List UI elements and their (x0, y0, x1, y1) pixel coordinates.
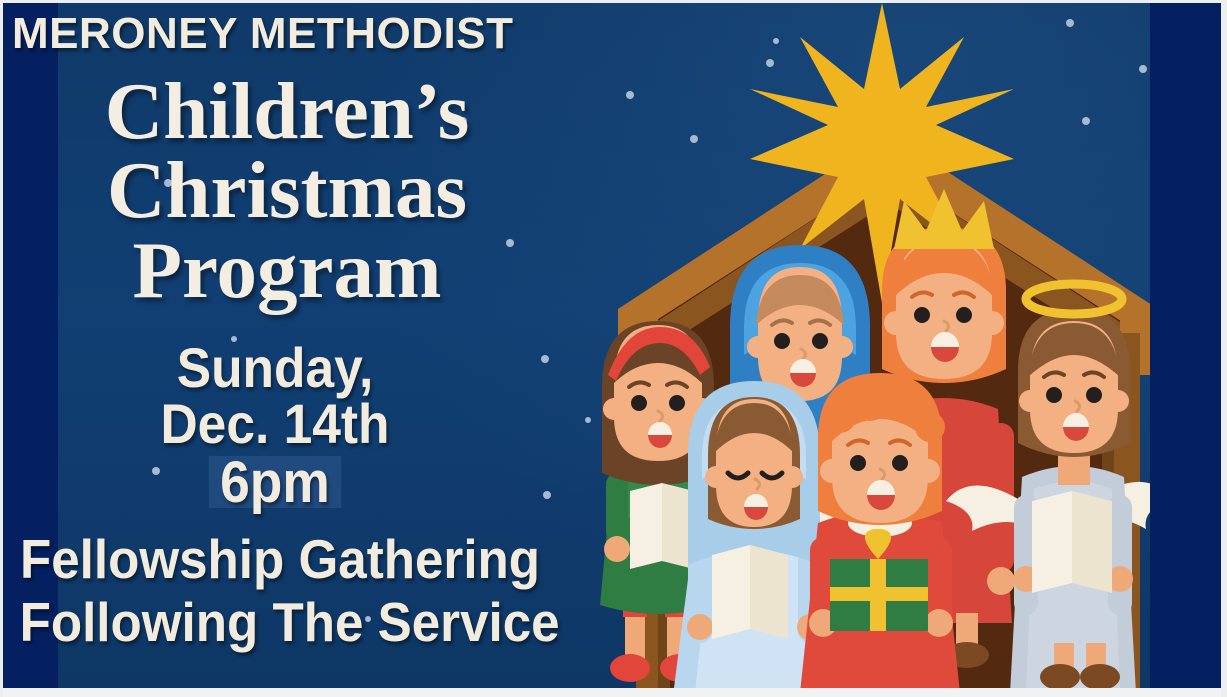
event-time: 6pm (215, 454, 336, 512)
poster-canvas: MERONEY METHODIST Children’s Christmas P… (0, 0, 1227, 697)
frame-edge-bottom (0, 688, 1227, 697)
songbook (630, 483, 694, 569)
fellowship-line-2: Following The Service (20, 591, 541, 654)
songbook (712, 545, 788, 639)
songbook (1032, 491, 1112, 593)
fellowship-line-1: Fellowship Gathering (20, 528, 541, 591)
title-line-1: Children’s (52, 72, 522, 151)
event-date-block: Sunday, Dec. 14th 6pm (0, 340, 550, 512)
frame-edge-right (1221, 0, 1227, 697)
title-line-2: Christmas (52, 151, 522, 230)
child-boy-red-gift (800, 373, 960, 688)
frame-edge-left (0, 0, 3, 697)
page-title: Children’s Christmas Program (52, 72, 522, 310)
church-name-kicker: MERONEY METHODIST (12, 9, 632, 59)
event-date: Dec. 14th (22, 396, 528, 452)
event-day: Sunday, (22, 340, 528, 396)
title-line-3: Program (52, 231, 522, 310)
poster-text-block: MERONEY METHODIST Children’s Christmas P… (0, 0, 560, 685)
fellowship-note: Fellowship Gathering Following The Servi… (0, 528, 560, 653)
event-time-line: 6pm (22, 454, 528, 512)
